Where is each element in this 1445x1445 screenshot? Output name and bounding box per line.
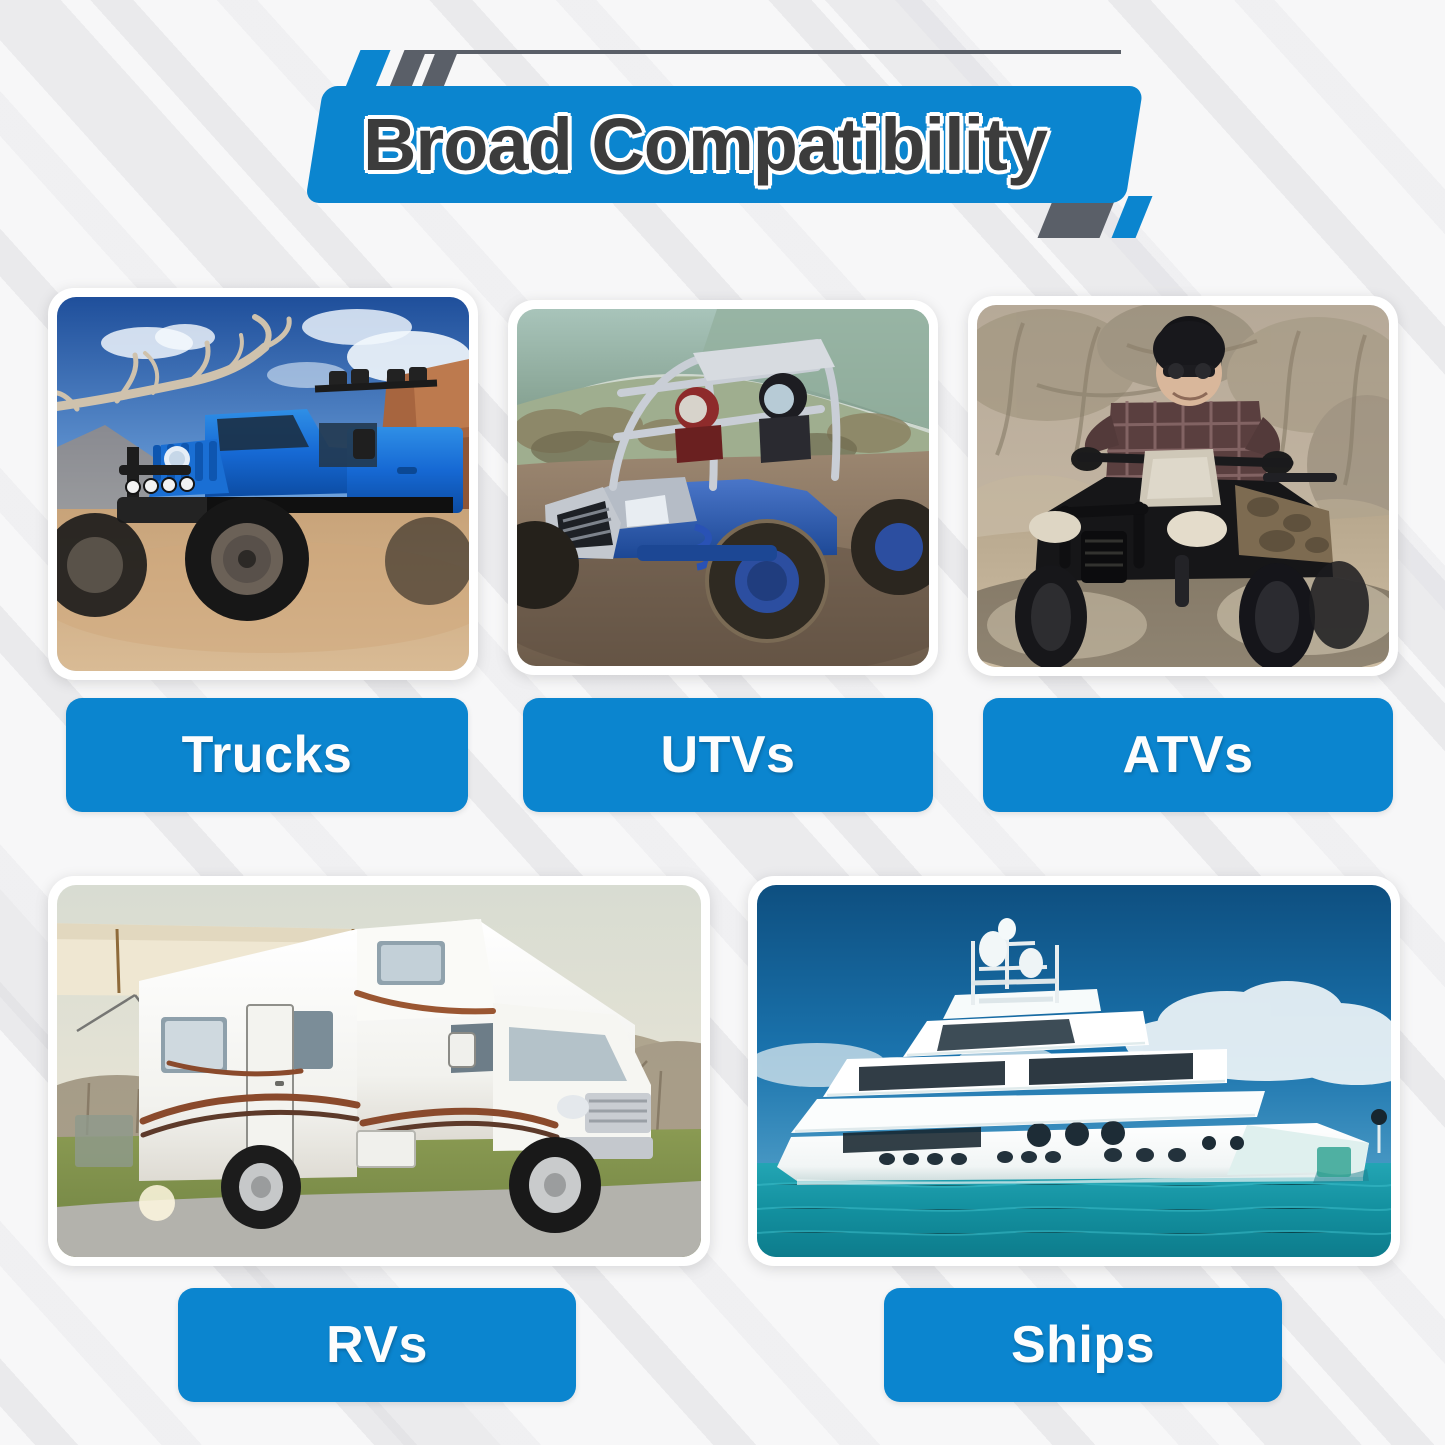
blue-offroad-pickup-truck-photo bbox=[57, 297, 469, 671]
label-pill-trucks[interactable]: Trucks bbox=[66, 698, 468, 812]
photo-card-utvs bbox=[508, 300, 938, 675]
white-luxury-superyacht-photo bbox=[757, 885, 1391, 1257]
photo-card-trucks bbox=[48, 288, 478, 680]
header-rule-line bbox=[424, 50, 1121, 54]
white-class-c-motorhome-photo bbox=[57, 885, 701, 1257]
page-title: Broad Compatibility bbox=[305, 86, 1105, 203]
camo-atv-quad-rider-photo bbox=[977, 305, 1389, 667]
label-pill-atvs[interactable]: ATVs bbox=[983, 698, 1393, 812]
label-pill-rvs[interactable]: RVs bbox=[178, 1288, 576, 1402]
photo-card-rvs bbox=[48, 876, 710, 1266]
label-pill-utvs[interactable]: UTVs bbox=[523, 698, 933, 812]
photo-card-atvs bbox=[968, 296, 1398, 676]
header-accent-slash-blue-2 bbox=[1112, 196, 1153, 238]
header-banner: Broad Compatibility bbox=[0, 0, 1445, 258]
label-pill-ships[interactable]: Ships bbox=[884, 1288, 1282, 1402]
photo-card-ships bbox=[748, 876, 1400, 1266]
blue-utv-side-by-side-photo bbox=[517, 309, 929, 666]
